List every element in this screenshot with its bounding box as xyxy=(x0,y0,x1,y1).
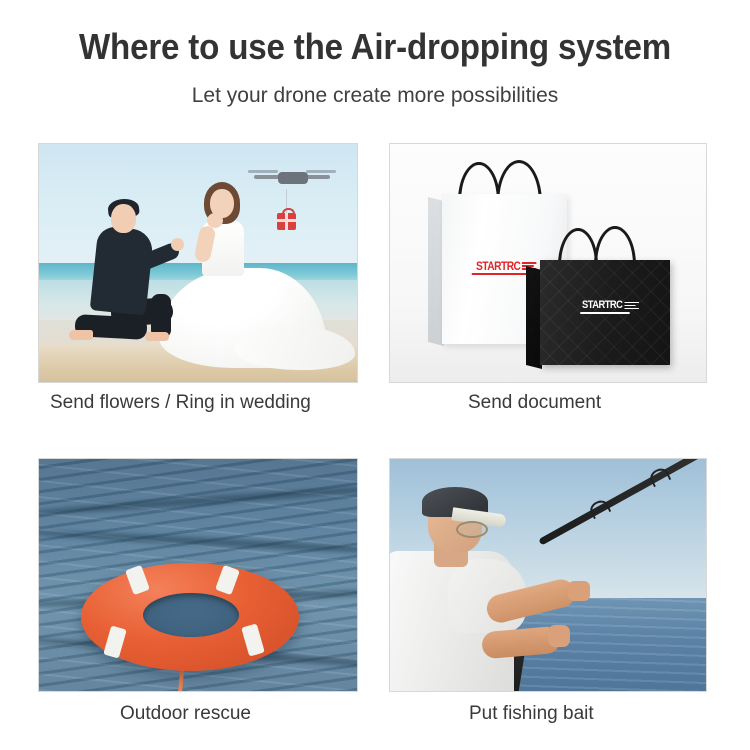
caption-document: Send document xyxy=(468,392,601,414)
startrc-logo-text: STARTRC xyxy=(476,260,520,272)
drone-propeller-right xyxy=(306,170,336,173)
photo-panel-rescue xyxy=(38,458,358,692)
caption-wedding: Send flowers / Ring in wedding xyxy=(50,392,311,414)
startrc-logo-underline xyxy=(472,273,526,275)
startrc-logo-stripes xyxy=(624,302,638,310)
life-ring-photo xyxy=(39,459,357,691)
gift-ribbon-horizontal xyxy=(277,219,296,222)
photo-panel-fishing xyxy=(389,458,707,692)
startrc-logo-black-bag: STARTRC xyxy=(582,300,639,311)
groom-head xyxy=(111,204,136,233)
reflective-band xyxy=(125,565,150,595)
startrc-logo-underline xyxy=(580,312,629,314)
bride-hands xyxy=(207,213,223,228)
gift-box-icon xyxy=(277,213,296,230)
photo-panel-wedding xyxy=(38,143,358,383)
drone-body xyxy=(278,172,308,184)
groom-foot-left xyxy=(69,330,93,340)
caption-rescue: Outdoor rescue xyxy=(120,703,251,725)
fisherman-photo xyxy=(390,459,706,691)
startrc-logo-text: STARTRC xyxy=(582,300,622,311)
reflective-band xyxy=(215,565,240,595)
fisherman-hand-upper xyxy=(568,581,590,601)
page-title: Where to use the Air-dropping system xyxy=(30,26,720,68)
groom-foot-right xyxy=(145,332,169,341)
sunglasses-icon xyxy=(456,521,488,538)
wedding-photo xyxy=(39,144,357,382)
drone-propeller-left xyxy=(248,170,278,173)
page-subtitle: Let your drone create more possibilities xyxy=(0,84,750,108)
photo-panel-document: STARTRC STARTRC xyxy=(389,143,707,383)
groom-hand-with-ring xyxy=(171,238,184,251)
drone-icon xyxy=(254,166,330,192)
shopping-bags-photo: STARTRC STARTRC xyxy=(390,144,706,382)
fisherman-hand-lower xyxy=(548,625,570,647)
reflective-band xyxy=(241,623,265,656)
reflective-band xyxy=(103,625,127,658)
life-ring-hole xyxy=(143,593,239,637)
gift-bow xyxy=(282,208,295,216)
life-ring xyxy=(81,563,299,671)
caption-fishing: Put fishing bait xyxy=(469,703,594,725)
